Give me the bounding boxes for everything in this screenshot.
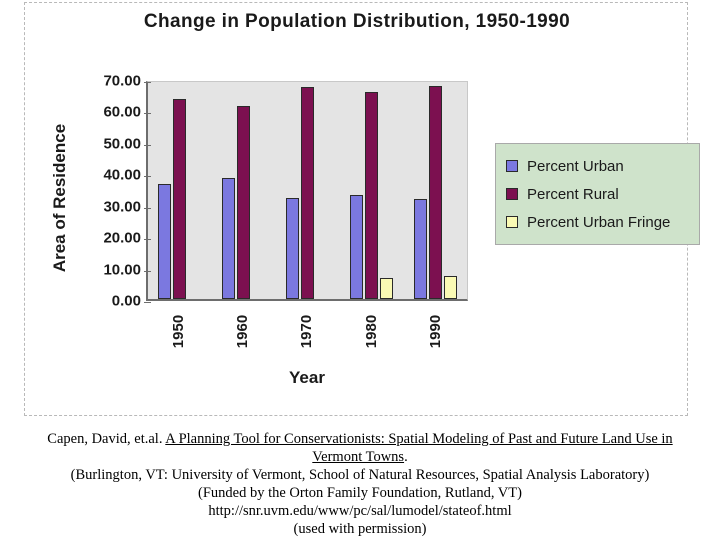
y-axis-tick-mark bbox=[144, 145, 151, 146]
bar-group bbox=[212, 82, 276, 299]
legend-label: Percent Urban bbox=[527, 158, 624, 175]
x-axis-tick-label: 1960 bbox=[234, 315, 251, 348]
bar-fringe-1980 bbox=[380, 278, 393, 299]
bars-layer bbox=[148, 82, 467, 299]
citation-title-period: . bbox=[404, 449, 408, 465]
bar-rural-1970 bbox=[301, 87, 314, 299]
bar-group bbox=[276, 82, 340, 299]
y-axis-tick-label: 70.00 bbox=[103, 73, 141, 90]
x-axis-tick-label: 1950 bbox=[170, 315, 187, 348]
citation-line-4: (Funded by the Orton Family Foundation, … bbox=[0, 484, 720, 502]
y-axis-tick-label: 10.00 bbox=[103, 261, 141, 278]
x-axis-tick-labels: 19501960197019801990 bbox=[146, 303, 468, 361]
bar-urban-1980 bbox=[350, 195, 363, 299]
y-axis-tick-label: 30.00 bbox=[103, 198, 141, 215]
y-axis-title: Area of Residence bbox=[47, 98, 73, 298]
bar-rural-1990 bbox=[429, 86, 442, 299]
citation-title-part-1: A Planning Tool for Conservationists: Sp… bbox=[165, 431, 672, 447]
y-axis-tick-label: 50.00 bbox=[103, 135, 141, 152]
bar-group bbox=[339, 82, 403, 299]
x-axis-tick-1970: 1970 bbox=[275, 303, 339, 361]
bar-fringe-1990 bbox=[444, 276, 457, 299]
citation-line-3: (Burlington, VT: University of Vermont, … bbox=[0, 466, 720, 484]
bar-rural-1980 bbox=[365, 92, 378, 299]
citation-author: Capen, David, et.al. bbox=[47, 431, 162, 447]
x-axis-tick-label: 1980 bbox=[363, 315, 380, 348]
chart-legend: Percent UrbanPercent RuralPercent Urban … bbox=[495, 143, 700, 245]
figure-frame: Change in Population Distribution, 1950-… bbox=[24, 2, 688, 416]
bar-urban-1950 bbox=[158, 184, 171, 299]
y-axis-tick-mark bbox=[144, 176, 151, 177]
x-axis-tick-1960: 1960 bbox=[210, 303, 274, 361]
x-axis-tick-label: 1990 bbox=[427, 315, 444, 348]
bar-group bbox=[403, 82, 467, 299]
x-axis-tick-label: 1970 bbox=[299, 315, 316, 348]
citation-title-part-2: Vermont Towns bbox=[312, 449, 404, 465]
legend-swatch-icon bbox=[506, 188, 518, 200]
x-axis-tick-1950: 1950 bbox=[146, 303, 210, 361]
citation-url: http://snr.uvm.edu/www/pc/sal/lumodel/st… bbox=[0, 502, 720, 520]
y-axis-tick-label: 0.00 bbox=[112, 293, 141, 310]
y-axis-title-text: Area of Residence bbox=[50, 124, 70, 272]
legend-item: Percent Rural bbox=[506, 180, 691, 208]
bar-rural-1960 bbox=[237, 106, 250, 299]
y-axis-tick-mark bbox=[144, 271, 151, 272]
bar-urban-1960 bbox=[222, 178, 235, 299]
citation-permission: (used with permission) bbox=[0, 520, 720, 538]
y-axis-tick-mark bbox=[144, 82, 151, 83]
y-axis-tick-label: 20.00 bbox=[103, 230, 141, 247]
x-axis-tick-1990: 1990 bbox=[404, 303, 468, 361]
bar-urban-1970 bbox=[286, 198, 299, 299]
y-axis-tick-mark bbox=[144, 239, 151, 240]
plot-area bbox=[146, 81, 468, 301]
bar-group bbox=[148, 82, 212, 299]
bar-rural-1950 bbox=[173, 99, 186, 299]
chart-title: Change in Population Distribution, 1950-… bbox=[25, 11, 689, 33]
citation-block: Capen, David, et.al. A Planning Tool for… bbox=[0, 430, 720, 538]
legend-item: Percent Urban Fringe bbox=[506, 208, 691, 236]
x-axis-tick-1980: 1980 bbox=[339, 303, 403, 361]
y-axis-tick-mark bbox=[144, 113, 151, 114]
legend-swatch-icon bbox=[506, 160, 518, 172]
legend-label: Percent Rural bbox=[527, 186, 619, 203]
citation-line-2: Vermont Towns. bbox=[0, 448, 720, 466]
citation-line-1: Capen, David, et.al. A Planning Tool for… bbox=[0, 430, 720, 448]
bar-urban-1990 bbox=[414, 199, 427, 299]
legend-item: Percent Urban bbox=[506, 152, 691, 180]
legend-label: Percent Urban Fringe bbox=[527, 214, 670, 231]
legend-swatch-icon bbox=[506, 216, 518, 228]
y-axis-tick-labels: 0.0010.0020.0030.0040.0050.0060.0070.00 bbox=[77, 79, 141, 303]
x-axis-title: Year bbox=[146, 368, 468, 388]
y-axis-tick-label: 40.00 bbox=[103, 167, 141, 184]
y-axis-tick-label: 60.00 bbox=[103, 104, 141, 121]
y-axis-tick-mark bbox=[144, 208, 151, 209]
